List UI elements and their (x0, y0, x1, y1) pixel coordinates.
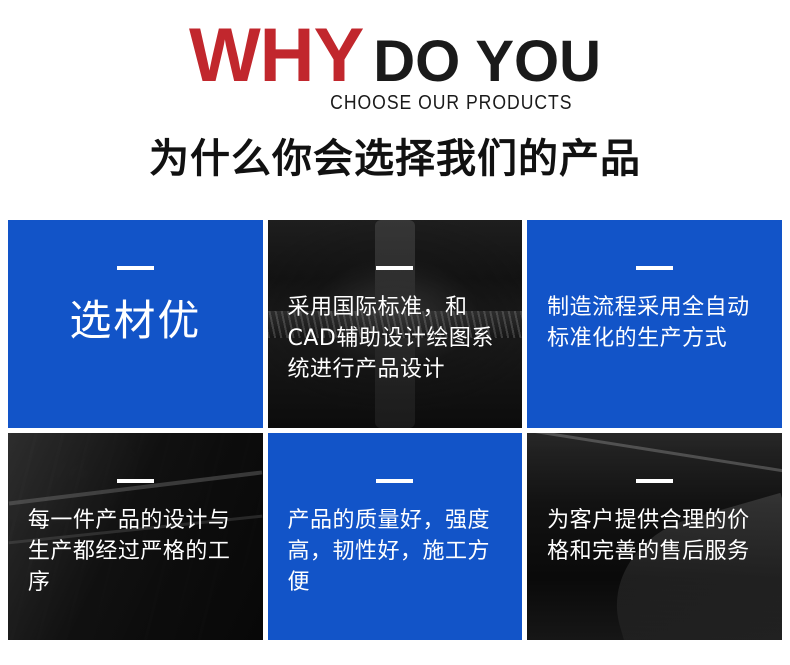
header-banner: WHYDO YOU CHOOSE OUR PRODUCTS 为什么你会选择我们的… (0, 0, 790, 200)
feature-cell-3-inner: 制造流程采用全自动标准化的生产方式 (527, 220, 782, 428)
feature-cell-3[interactable]: 制造流程采用全自动标准化的生产方式 (527, 220, 782, 428)
feature-cell-2[interactable]: 采用国际标准，和CAD辅助设计绘图系统进行产品设计 (268, 220, 523, 428)
divider-dash-icon (117, 479, 154, 483)
feature-cell-2-text: 采用国际标准，和CAD辅助设计绘图系统进行产品设计 (287, 292, 502, 386)
feature-cell-4-text: 每一件产品的设计与生产都经过严格的工序 (28, 505, 243, 599)
title-do-you: DO YOU (373, 29, 601, 94)
feature-cell-6-text: 为客户提供合理的价格和完善的售后服务 (547, 505, 762, 567)
feature-cell-6[interactable]: 为客户提供合理的价格和完善的售后服务 (527, 433, 782, 641)
subtitle-english: CHOOSE OUR PRODUCTS (47, 92, 742, 115)
feature-cell-1[interactable]: 选材优 (8, 220, 263, 428)
feature-cell-1-inner: 选材优 (8, 220, 263, 428)
divider-dash-icon (636, 266, 673, 270)
feature-cell-6-inner: 为客户提供合理的价格和完善的售后服务 (527, 433, 782, 641)
divider-dash-icon (376, 266, 413, 270)
feature-cell-5-text: 产品的质量好，强度高，韧性好，施工方便 (287, 505, 502, 599)
feature-cell-3-text: 制造流程采用全自动标准化的生产方式 (547, 292, 762, 354)
main-title: WHYDO YOU (0, 18, 790, 94)
feature-grid: 选材优 采用国际标准，和CAD辅助设计绘图系统进行产品设计 制造流程采用全自动标… (8, 220, 782, 640)
feature-cell-5-inner: 产品的质量好，强度高，韧性好，施工方便 (268, 433, 523, 641)
divider-dash-icon (376, 479, 413, 483)
feature-cell-2-inner: 采用国际标准，和CAD辅助设计绘图系统进行产品设计 (268, 220, 523, 428)
divider-dash-icon (636, 479, 673, 483)
feature-cell-5[interactable]: 产品的质量好，强度高，韧性好，施工方便 (268, 433, 523, 641)
divider-dash-icon (117, 266, 154, 270)
feature-cell-1-text: 选材优 (26, 296, 245, 346)
title-why: WHY (189, 13, 363, 98)
feature-cell-4[interactable]: 每一件产品的设计与生产都经过严格的工序 (8, 433, 263, 641)
feature-cell-4-inner: 每一件产品的设计与生产都经过严格的工序 (8, 433, 263, 641)
infographic-page: WHYDO YOU CHOOSE OUR PRODUCTS 为什么你会选择我们的… (0, 0, 790, 665)
subtitle-chinese: 为什么你会选择我们的产品 (0, 126, 790, 184)
